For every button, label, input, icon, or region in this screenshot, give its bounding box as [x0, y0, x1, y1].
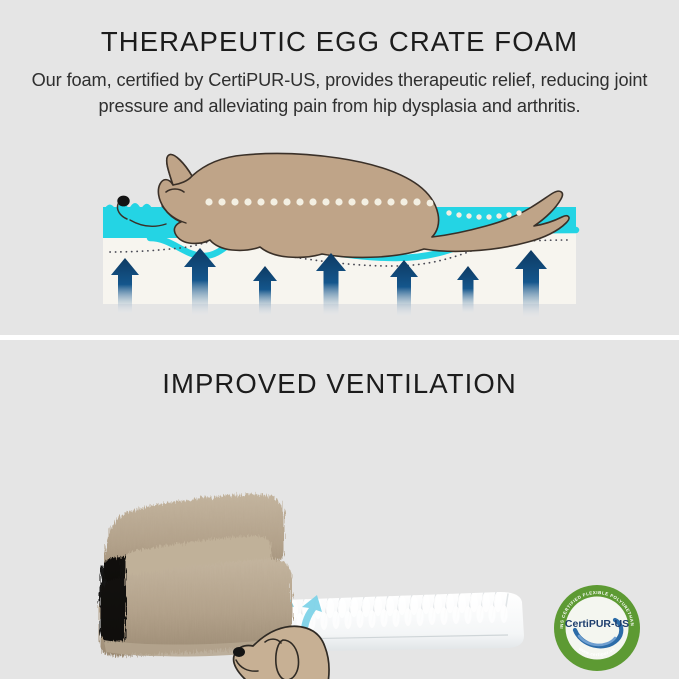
badge-center-text: CertiPUR-US: [565, 618, 629, 630]
panel-title-therapeutic-foam: THERAPEUTIC EGG CRATE FOAM: [0, 26, 679, 58]
plush-left-wall: [100, 556, 126, 642]
certipur-us-badge: CertiPUR-US CONTAINS CERTIFIED FLEXIBLE …: [553, 584, 641, 672]
memory-foam-wave-left: [103, 203, 153, 238]
panel-body-therapeutic-foam: Our foam, certified by CertiPUR-US, prov…: [24, 68, 655, 119]
infographic-page: THERAPEUTIC EGG CRATE FOAM Our foam, cer…: [0, 0, 679, 679]
panel-therapeutic-foam: THERAPEUTIC EGG CRATE FOAM Our foam, cer…: [0, 0, 679, 337]
dog-ear: [167, 155, 192, 185]
dog-nose: [117, 196, 129, 207]
plush-dog-bed: [100, 494, 292, 657]
therapeutic-foam-illustration: [0, 140, 679, 337]
dog-nose-2: [233, 647, 245, 657]
dog-illustration-lying: [117, 154, 569, 258]
dog-body: [158, 154, 569, 258]
